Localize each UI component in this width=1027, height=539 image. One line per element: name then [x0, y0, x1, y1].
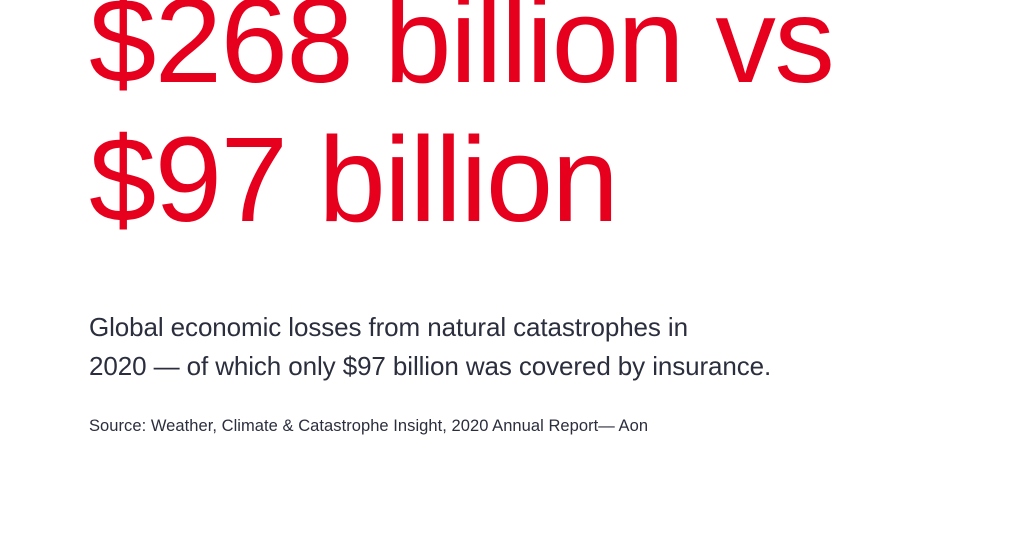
headline-line-1: $268 billion vs — [89, 0, 989, 110]
source-credit: Source: Weather, Climate & Catastrophe I… — [89, 415, 648, 437]
description-line-2: 2020 — of which only $97 billion was cov… — [89, 347, 949, 386]
description-line-1: Global economic losses from natural cata… — [89, 308, 949, 347]
statistic-callout-card: $268 billion vs $97 billion Global econo… — [0, 0, 1027, 539]
description: Global economic losses from natural cata… — [89, 308, 949, 386]
headline-line-2: $97 billion — [89, 110, 989, 249]
headline: $268 billion vs $97 billion — [89, 0, 989, 249]
